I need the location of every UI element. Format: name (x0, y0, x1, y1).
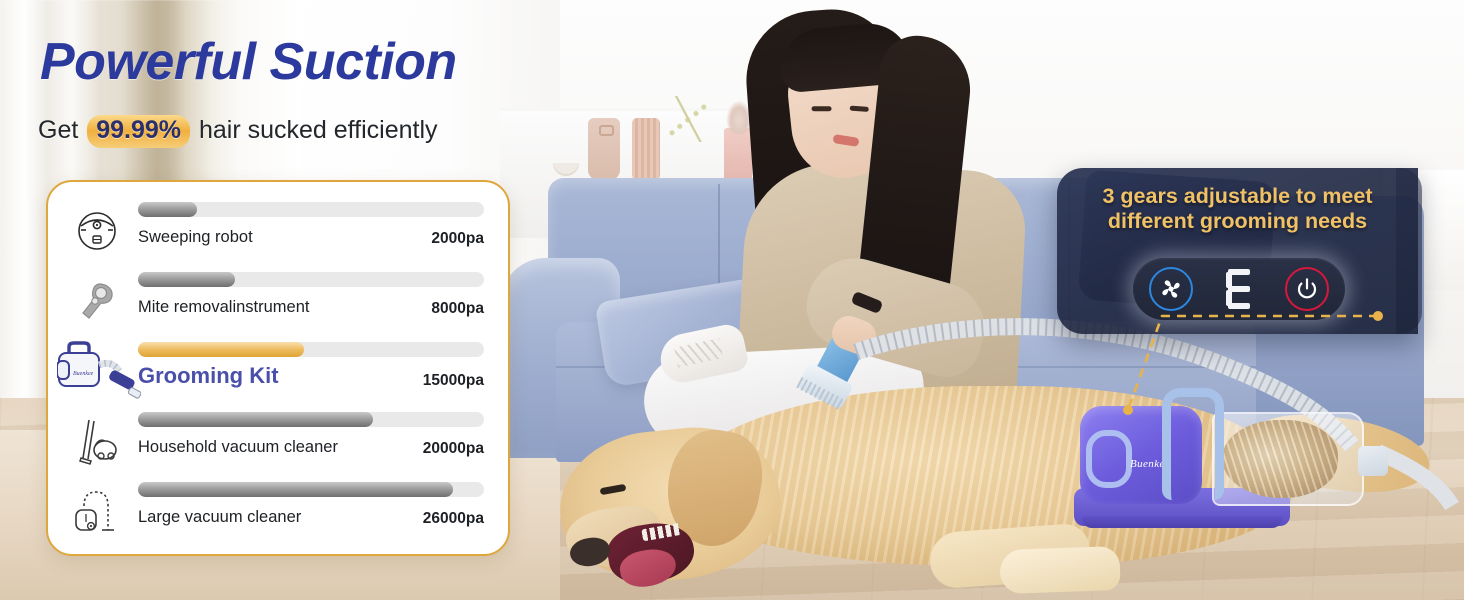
large-vacuum-icon (66, 482, 128, 540)
bar-fill (138, 202, 197, 217)
comparison-row-grooming-kit: Buenkee Grooming Kit 15000pa (66, 336, 484, 406)
gears-callout-box: 3 gears adjustable to meet different gro… (1057, 168, 1418, 334)
row-label-featured: Grooming Kit (138, 363, 279, 389)
bar-fill (138, 272, 235, 287)
bar-fill (138, 412, 373, 427)
bar-track (138, 202, 484, 217)
bar-fill-highlighted (138, 342, 304, 357)
suction-comparison-panel: Sweeping robot 2000pa Mite removalinstru… (46, 180, 510, 556)
callout-title-line2: different grooming needs (1108, 209, 1367, 233)
comparison-row-mite-remover: Mite removalinstrument 8000pa (66, 266, 484, 336)
mite-remover-icon (66, 272, 128, 330)
bar-track (138, 272, 484, 287)
bar-fill (138, 482, 453, 497)
row-value: 20000pa (423, 440, 484, 458)
device-control-panel (1133, 258, 1345, 320)
device-hose-port (1358, 446, 1388, 476)
device-air-intake-ring (1086, 430, 1132, 488)
decor-vase (724, 128, 752, 184)
callout-title: 3 gears adjustable to meet different gro… (1057, 184, 1418, 233)
decor-board-2 (632, 118, 660, 180)
decor-leaf-spray (660, 96, 720, 142)
row-value: 15000pa (423, 372, 484, 390)
row-label: Household vacuum cleaner (138, 438, 338, 457)
comparison-row-large-vacuum: Large vacuum cleaner 26000pa (66, 476, 484, 546)
row-value: 8000pa (431, 300, 484, 318)
row-value: 2000pa (431, 230, 484, 248)
gear-level-display (1226, 269, 1252, 309)
product-vacuum-device: Buenkee (1070, 388, 1380, 540)
segment-bottom (1228, 303, 1250, 309)
bar-track (138, 412, 484, 427)
canister-vacuum-icon (66, 412, 128, 470)
callout-title-line1: 3 gears adjustable to meet (1102, 184, 1372, 208)
row-label: Sweeping robot (138, 228, 253, 247)
device-carry-handle (1162, 388, 1224, 500)
robot-vacuum-icon (66, 202, 128, 260)
comparison-row-sweeping-robot: Sweeping robot 2000pa (66, 196, 484, 266)
fan-icon[interactable] (1149, 267, 1193, 311)
subtitle-suffix: hair sucked efficiently (192, 116, 438, 144)
subtitle-prefix: Get (38, 116, 85, 144)
comparison-row-household-vacuum: Household vacuum cleaner 20000pa (66, 406, 484, 476)
page-subtitle: Get 99.99% hair sucked efficiently (38, 115, 438, 148)
power-icon[interactable] (1285, 267, 1329, 311)
bar-track (138, 482, 484, 497)
dog-second-paw (999, 546, 1120, 594)
decor-board-1 (588, 118, 620, 180)
svg-text:Buenkee: Buenkee (73, 371, 94, 377)
grooming-kit-product-icon: Buenkee (56, 342, 142, 400)
efficiency-percent-badge: 99.99% (87, 115, 190, 148)
bar-track (138, 342, 484, 357)
collected-pet-hair (1222, 420, 1338, 498)
page-title: Powerful Suction (40, 36, 457, 88)
row-label: Mite removalinstrument (138, 298, 309, 317)
row-label: Large vacuum cleaner (138, 508, 301, 527)
row-value: 26000pa (423, 510, 484, 528)
